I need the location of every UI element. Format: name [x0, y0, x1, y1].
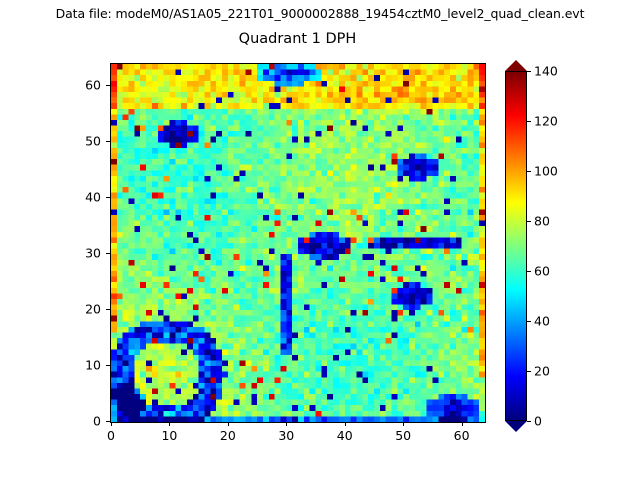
y-tick-mark [106, 253, 110, 254]
colorbar-extend-low-arrow [505, 421, 527, 432]
y-tick-label: 10 [85, 358, 101, 373]
colorbar-tick-mark [527, 171, 531, 172]
x-tick-mark [111, 422, 112, 426]
colorbar-tick-label: 60 [534, 264, 550, 279]
colorbar-tick-label: 120 [534, 114, 558, 129]
colorbar-tick-mark [527, 371, 531, 372]
y-tick-label: 40 [85, 190, 101, 205]
x-tick-label: 50 [395, 428, 411, 443]
y-tick-mark [106, 365, 110, 366]
y-tick-label: 30 [85, 246, 101, 261]
data-file-suptitle: Data file: modeM0/AS1A05_221T01_90000028… [0, 6, 640, 21]
y-tick-mark [106, 85, 110, 86]
x-tick-label: 20 [220, 428, 236, 443]
matplotlib-figure: Data file: modeM0/AS1A05_221T01_90000028… [0, 0, 640, 480]
x-tick-label: 10 [161, 428, 177, 443]
colorbar-tick-mark [527, 221, 531, 222]
colorbar-tick-label: 140 [534, 64, 558, 79]
colorbar-tick-mark [527, 121, 531, 122]
dph-heatmap-image [111, 64, 485, 422]
x-tick-label: 40 [337, 428, 353, 443]
colorbar-tick-label: 0 [534, 414, 542, 429]
y-tick-label: 50 [85, 134, 101, 149]
y-tick-mark [106, 197, 110, 198]
x-tick-mark [228, 422, 229, 426]
colorbar [505, 60, 527, 435]
x-tick-mark [403, 422, 404, 426]
colorbar-tick-mark [527, 271, 531, 272]
colorbar-gradient-canvas [506, 72, 526, 420]
colorbar-tick-mark [527, 421, 531, 422]
x-tick-label: 30 [278, 428, 294, 443]
colorbar-tick-label: 40 [534, 314, 550, 329]
x-tick-label: 0 [107, 428, 115, 443]
colorbar-extend-high-arrow [505, 60, 527, 71]
y-tick-label: 60 [85, 78, 101, 93]
y-tick-mark [106, 421, 110, 422]
x-tick-mark [169, 422, 170, 426]
colorbar-gradient [505, 71, 527, 421]
plot-title: Quadrant 1 DPH [110, 31, 485, 47]
y-tick-mark [106, 309, 110, 310]
colorbar-tick-mark [527, 71, 531, 72]
x-tick-label: 60 [454, 428, 470, 443]
x-tick-mark [286, 422, 287, 426]
colorbar-tick-label: 100 [534, 164, 558, 179]
dph-heatmap-axes [110, 63, 486, 423]
colorbar-tick-label: 20 [534, 364, 550, 379]
y-tick-label: 0 [93, 414, 101, 429]
x-tick-mark [345, 422, 346, 426]
y-tick-label: 20 [85, 302, 101, 317]
colorbar-tick-label: 80 [534, 214, 550, 229]
y-tick-mark [106, 141, 110, 142]
x-tick-mark [462, 422, 463, 426]
colorbar-tick-mark [527, 321, 531, 322]
